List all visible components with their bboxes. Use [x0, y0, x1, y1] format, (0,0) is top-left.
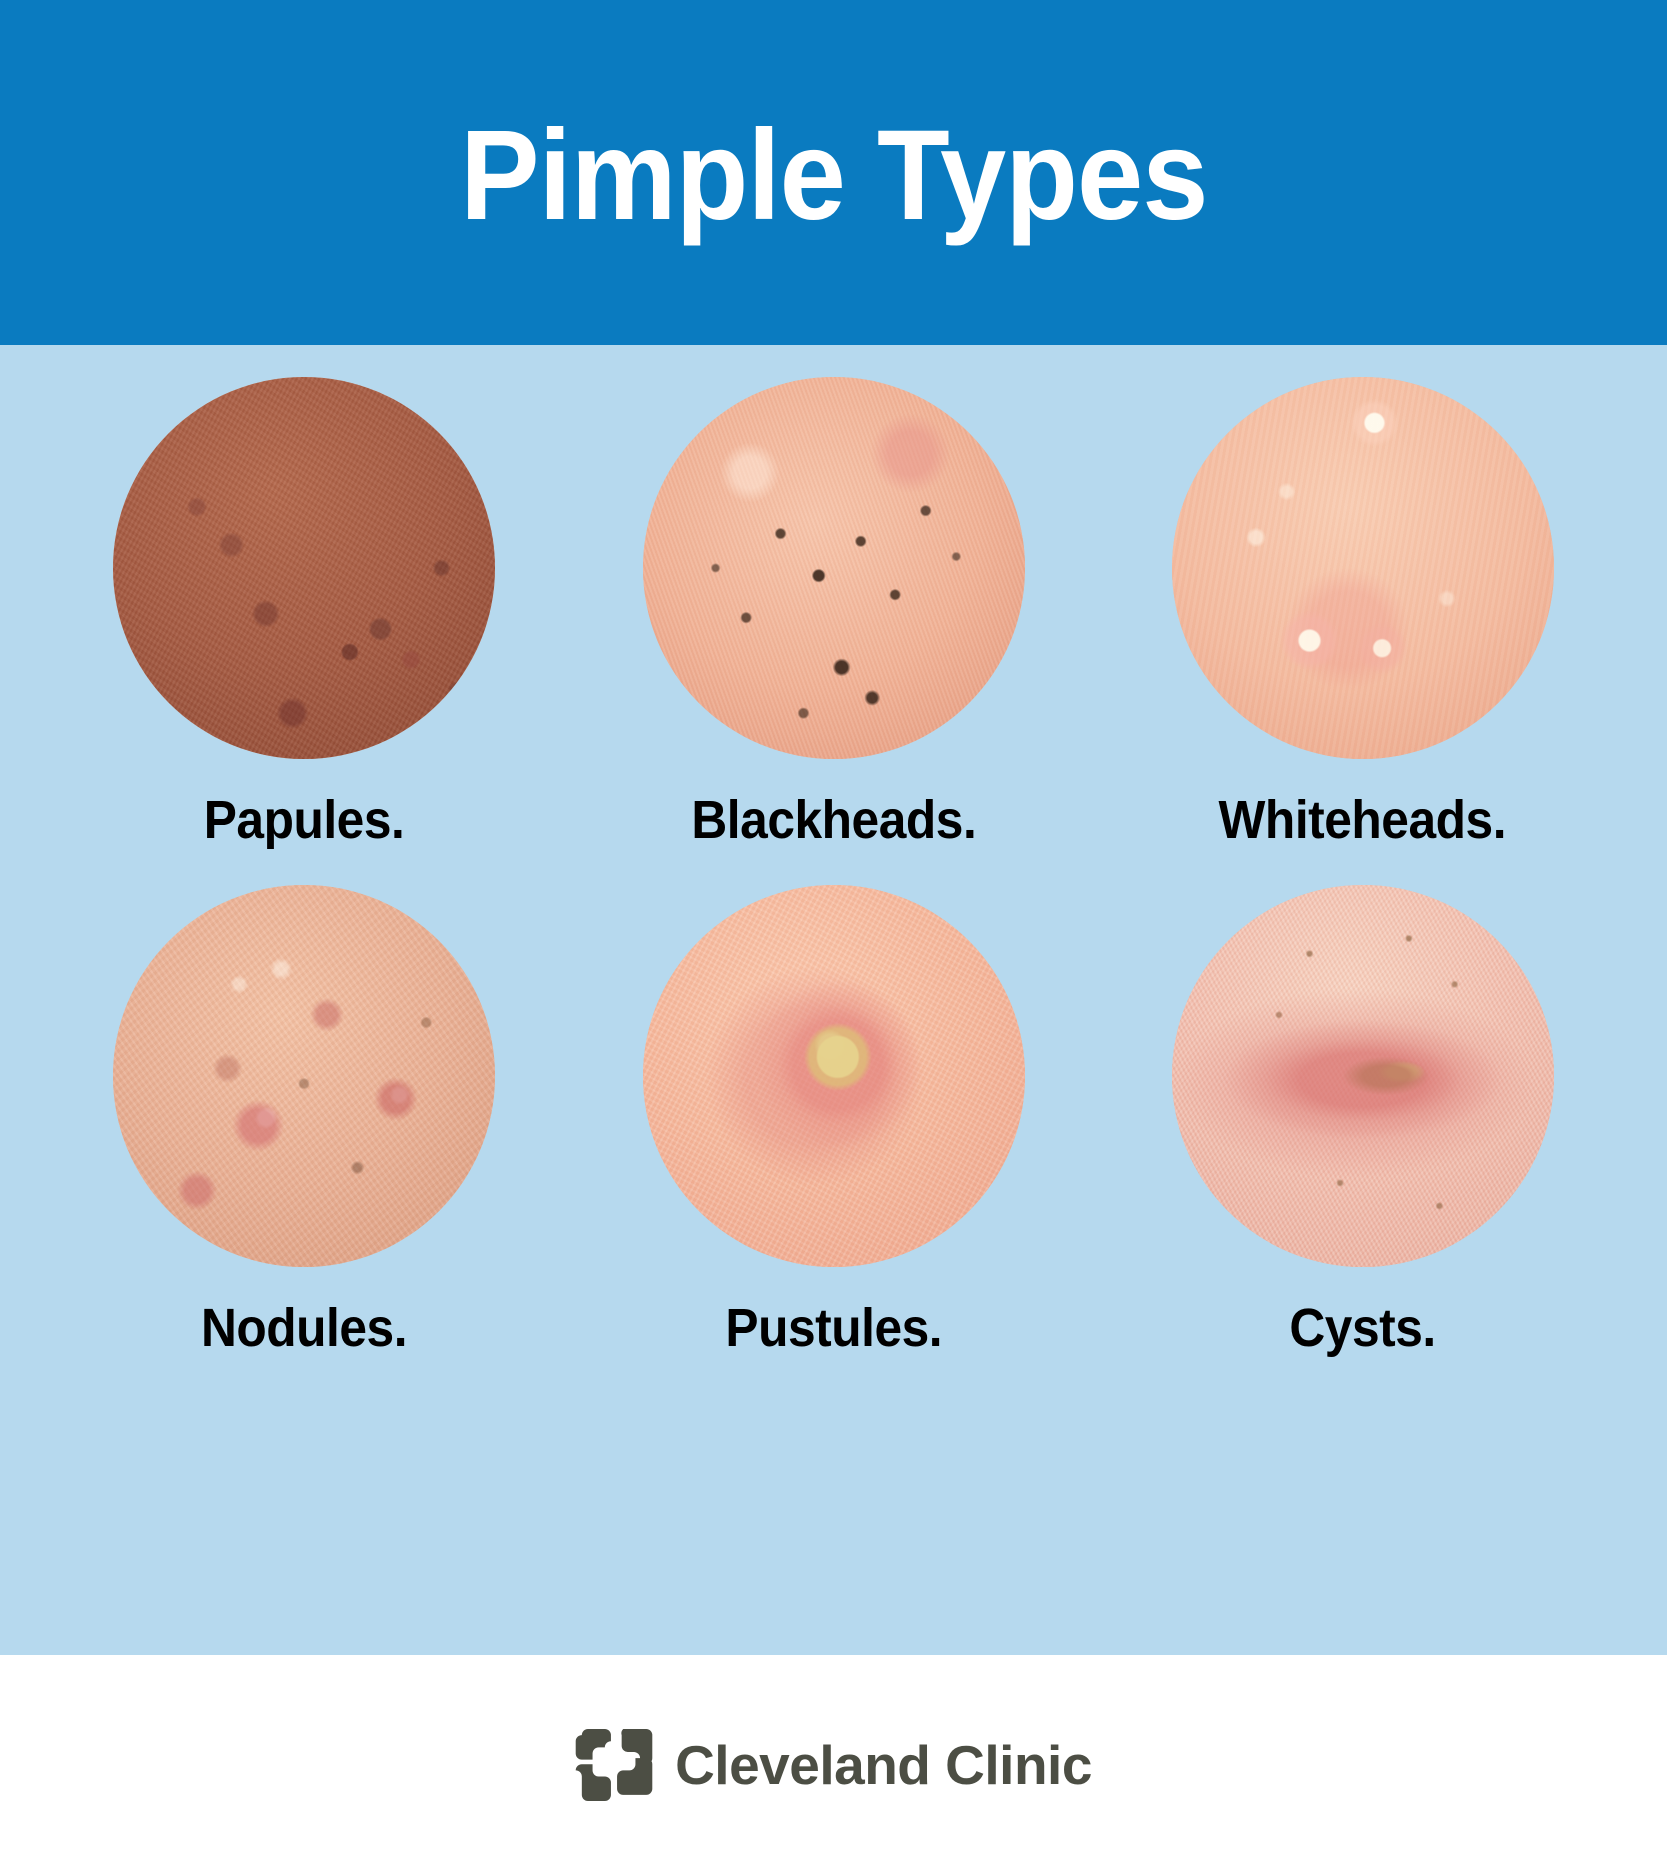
poster-header: Pimple Types	[0, 0, 1667, 345]
cleveland-clinic-wordmark: Cleveland Clinic	[675, 1738, 1092, 1793]
cysts-skin-texture	[1172, 885, 1554, 1267]
pimple-card-pustules: Pustules.	[569, 885, 1098, 1355]
pimple-card-nodules: Nodules.	[40, 885, 569, 1355]
whiteheads-skin-photo	[1172, 377, 1554, 759]
pimple-type-grid: Papules. Blackheads. Whiteheads.	[0, 345, 1667, 1655]
papules-skin-photo	[113, 377, 495, 759]
nodules-skin-photo	[113, 885, 495, 1267]
nodules-skin-texture	[113, 885, 495, 1267]
pimple-label-cysts: Cysts.	[1289, 1301, 1435, 1355]
pimple-label-nodules: Nodules.	[201, 1301, 407, 1355]
page-title: Pimple Types	[460, 112, 1207, 240]
papules-skin-texture	[113, 377, 495, 759]
blackheads-skin-texture	[643, 377, 1025, 759]
grid-row-top: Papules. Blackheads. Whiteheads.	[40, 377, 1627, 847]
pimple-card-cysts: Cysts.	[1098, 885, 1627, 1355]
pimple-card-whiteheads: Whiteheads.	[1098, 377, 1627, 847]
pimple-card-blackheads: Blackheads.	[569, 377, 1098, 847]
infographic-poster: Pimple Types Papules. Blackheads. W	[0, 0, 1667, 1875]
pimple-card-papules: Papules.	[40, 377, 569, 847]
whiteheads-skin-texture	[1172, 377, 1554, 759]
pimple-label-pustules: Pustules.	[725, 1301, 942, 1355]
blackheads-skin-photo	[643, 377, 1025, 759]
cysts-skin-photo	[1172, 885, 1554, 1267]
grid-row-bottom: Nodules. Pustules. Cysts.	[40, 885, 1627, 1355]
poster-footer: Cleveland Clinic	[0, 1655, 1667, 1875]
cleveland-clinic-pinwheel-logo	[575, 1729, 653, 1801]
pustules-skin-photo	[643, 885, 1025, 1267]
pimple-label-whiteheads: Whiteheads.	[1219, 793, 1507, 847]
pustules-skin-texture	[643, 885, 1025, 1267]
pimple-label-papules: Papules.	[204, 793, 405, 847]
pimple-label-blackheads: Blackheads.	[691, 793, 976, 847]
